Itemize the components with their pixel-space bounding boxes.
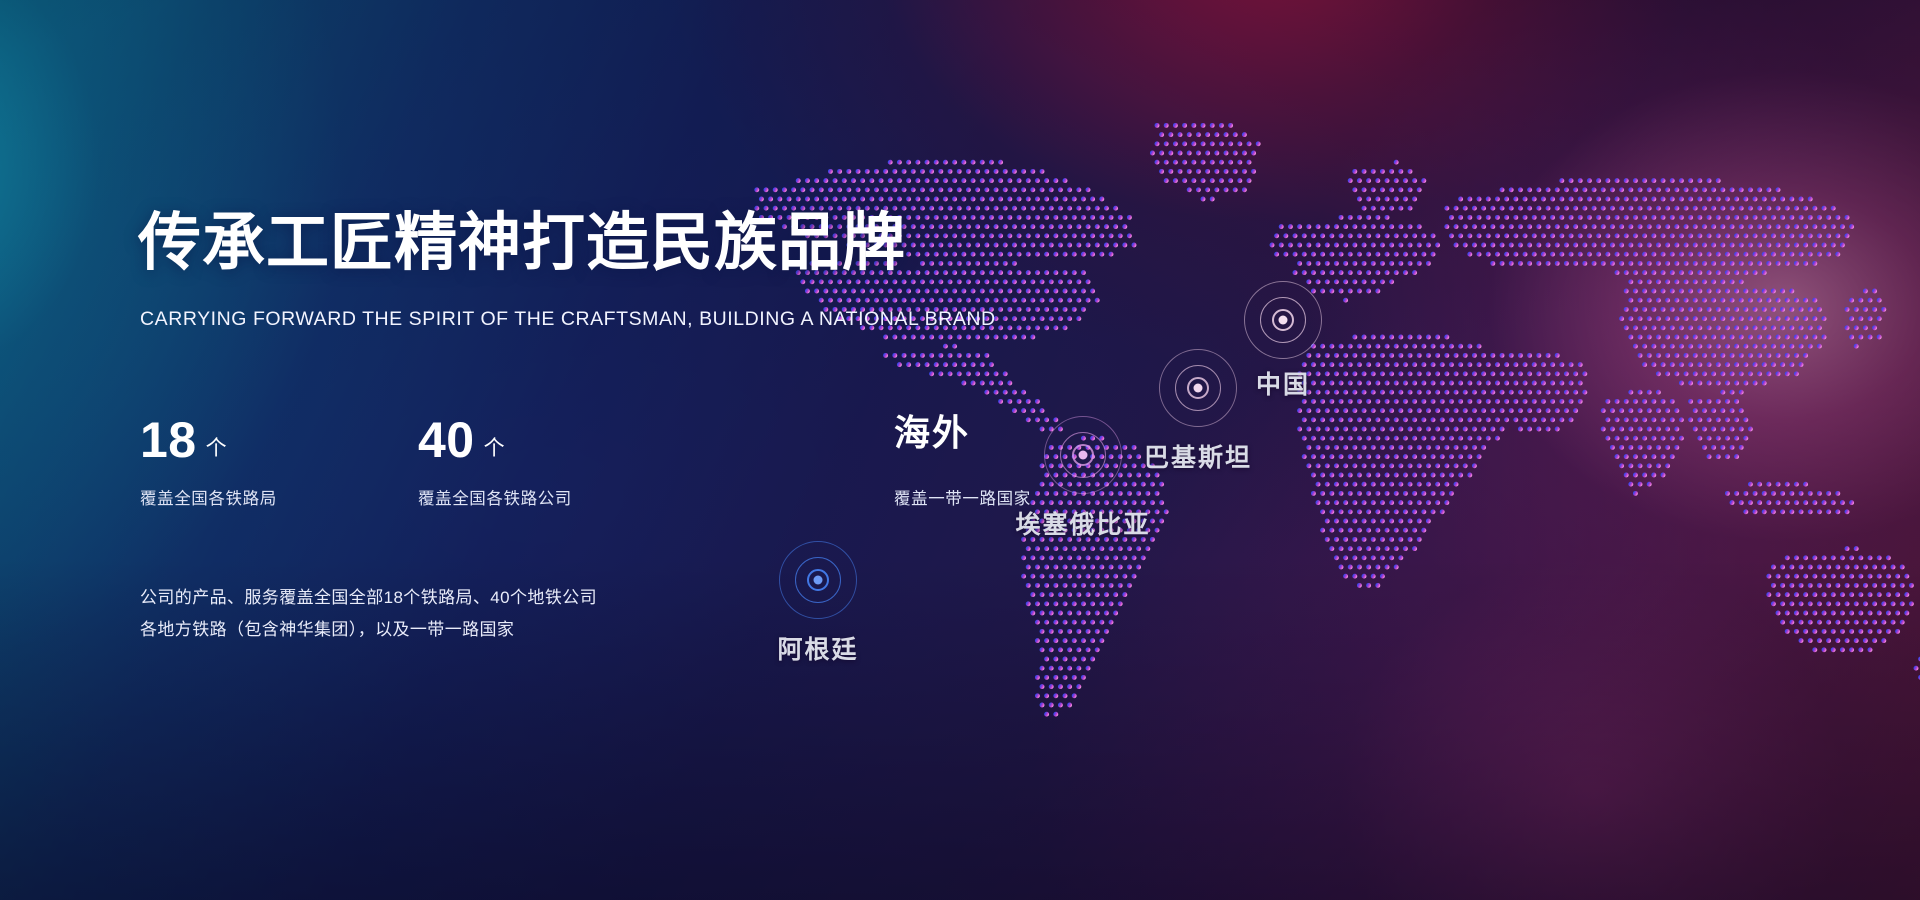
stats-row: 18 个 覆盖全国各铁路局 40 个 覆盖全国各铁路公司 — [140, 415, 894, 509]
body-copy: 公司的产品、服务覆盖全国全部18个铁路局、40个地铁公司 各地方铁路（包含神华集… — [140, 582, 597, 646]
map-marker-label: 中国 — [1256, 365, 1310, 401]
stat-number: 40 — [418, 415, 475, 465]
stat-number: 18 — [140, 415, 197, 465]
stat-label: 覆盖一带一路国家 — [894, 485, 1174, 509]
map-marker-label: 埃塞俄比亚 — [1015, 505, 1150, 541]
marker-dot-icon — [1194, 384, 1203, 393]
page-subtitle: CARRYING FORWARD THE SPIRIT OF THE CRAFT… — [140, 310, 996, 330]
stat-label: 覆盖全国各铁路局 — [140, 485, 420, 509]
marker-dot-icon — [814, 576, 823, 585]
marker-dot-icon — [1279, 316, 1288, 325]
map-marker-label: 阿根廷 — [777, 630, 858, 666]
stat-unit: 个 — [484, 432, 505, 462]
page-title: 传承工匠精神打造民族品牌 — [138, 212, 906, 275]
body-copy-line-1: 公司的产品、服务覆盖全国全部18个铁路局、40个地铁公司 — [140, 582, 597, 614]
hero-banner: 中国巴基斯坦埃塞俄比亚阿根廷 传承工匠精神打造民族品牌 CARRYING FOR… — [0, 0, 1920, 900]
stat-unit: 个 — [206, 432, 227, 462]
body-copy-line-2: 各地方铁路（包含神华集团），以及一带一路国家 — [140, 614, 597, 646]
stat-number: 海外 — [894, 415, 970, 451]
stat-label: 覆盖全国各铁路公司 — [418, 485, 698, 509]
